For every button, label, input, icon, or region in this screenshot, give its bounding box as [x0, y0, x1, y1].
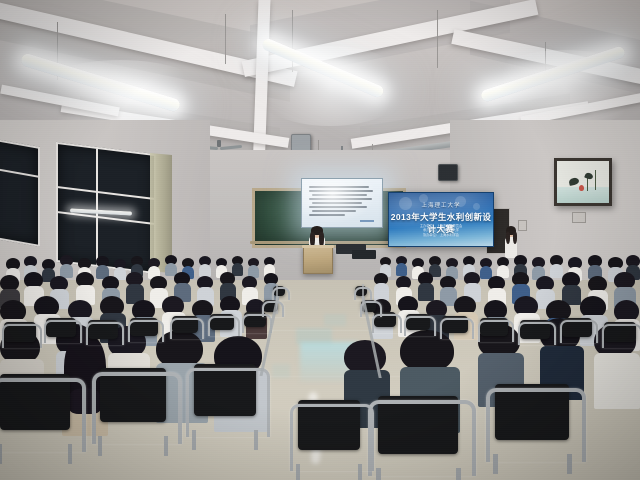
- chair[interactable]: [128, 318, 160, 342]
- chair[interactable]: [602, 322, 638, 348]
- chair[interactable]: [92, 368, 174, 456]
- chair[interactable]: [186, 364, 264, 450]
- chair[interactable]: [478, 318, 510, 342]
- chair[interactable]: [2, 322, 38, 348]
- chair[interactable]: [368, 396, 468, 480]
- chair[interactable]: [404, 314, 432, 336]
- lecture-hall-photograph: 上海理工大学 2013年大学生水利创新设计大赛 主办单位： 上海市教育委员会 承…: [0, 0, 640, 480]
- chair[interactable]: [44, 318, 78, 344]
- chair[interactable]: [518, 320, 552, 346]
- aisle-chair-rail: [362, 284, 364, 314]
- aisle-chair-rail: [276, 284, 278, 314]
- chair[interactable]: [440, 316, 470, 340]
- chair[interactable]: [170, 316, 200, 340]
- chair-rows: [0, 0, 640, 480]
- chair[interactable]: [290, 400, 368, 480]
- chair[interactable]: [208, 314, 236, 336]
- chair[interactable]: [486, 384, 578, 476]
- chair[interactable]: [0, 374, 78, 464]
- chair[interactable]: [560, 318, 594, 344]
- chair[interactable]: [86, 320, 120, 346]
